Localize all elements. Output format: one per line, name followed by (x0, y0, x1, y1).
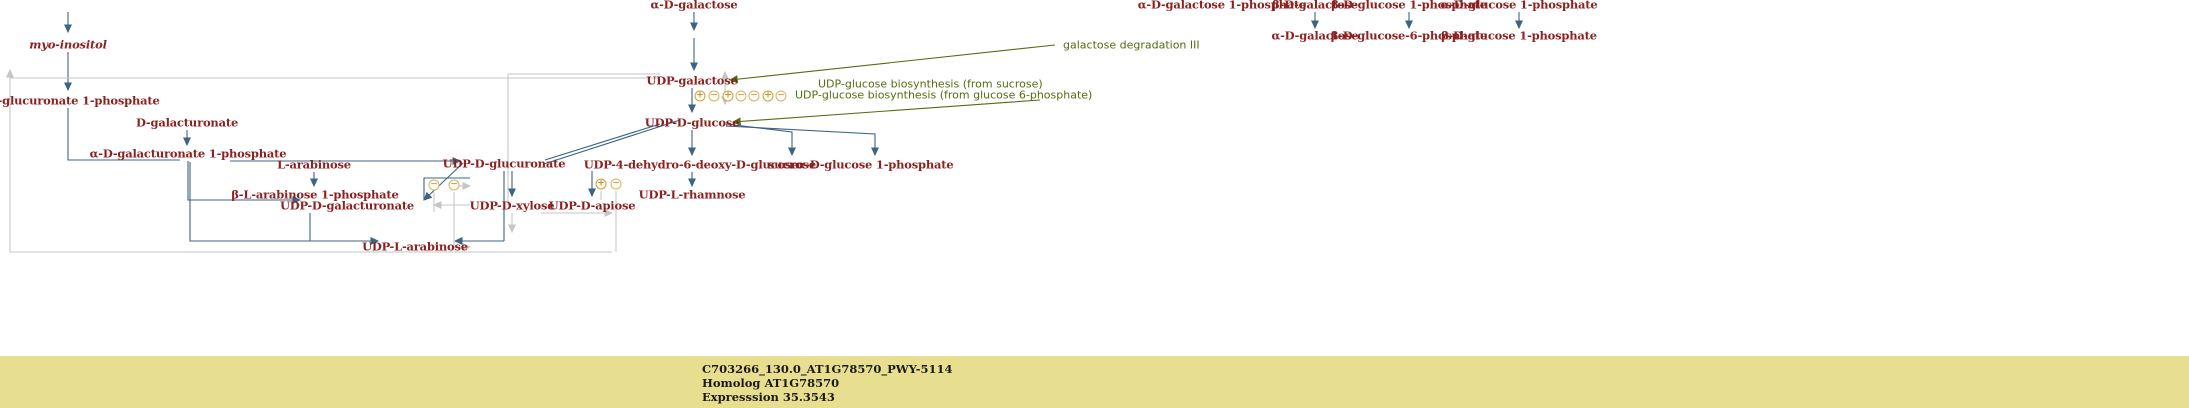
node-alpha-d-galactose-top[interactable]: α-D-galactose (650, 0, 737, 11)
node-alpha-d-glucuronate-1-phosphate[interactable]: α-D-glucuronate 1-phosphate (0, 95, 160, 107)
footer-expression: Expresssion 35.3543 (702, 392, 835, 404)
pathway-canvas: myo-inositol α-D-glucuronate 1-phosphate… (0, 0, 2189, 408)
node-udp-galactose[interactable]: UDP-galactose (646, 75, 737, 87)
footer-identifier: C703266_130.0_AT1G78570_PWY-5114 (702, 364, 953, 376)
regulator-plus-icon[interactable]: + (723, 91, 734, 102)
pathway-label-galactose-degradation-iii[interactable]: galactose degradation III (1063, 40, 1200, 51)
node-udp-d-xylose[interactable]: UDP-D-xylose (470, 200, 555, 212)
regulator-plus-icon[interactable]: + (695, 91, 706, 102)
node-udp-d-glucuronate[interactable]: UDP-D-glucuronate (443, 158, 566, 170)
node-alpha-d-glucose-1-phosphate-top[interactable]: α-D-glucose 1-phosphate (1440, 0, 1597, 11)
node-udp-l-arabinose[interactable]: UDP-L-arabinose (362, 241, 468, 253)
regulator-minus-icon[interactable]: − (736, 91, 747, 102)
node-udp-d-galacturonate[interactable]: UDP-D-galacturonate (280, 200, 414, 212)
regulator-minus-icon[interactable]: − (709, 91, 720, 102)
regulator-minus-icon[interactable]: − (749, 91, 760, 102)
footer-homolog: Homolog AT1G78570 (702, 378, 839, 390)
node-myo-inositol[interactable]: myo-inositol (29, 39, 107, 51)
node-alpha-d-galacturonate-1-phosphate[interactable]: α-D-galacturonate 1-phosphate (90, 148, 287, 160)
node-beta-d-glucose-1-phosphate-bottom[interactable]: β-D-glucose 1-phosphate (1441, 30, 1597, 42)
node-udp-d-glucose[interactable]: UDP-D-glucose (645, 117, 739, 129)
node-udp-d-apiose[interactable]: UDP-D-apiose (549, 200, 636, 212)
regulator-plus-icon[interactable]: + (763, 91, 774, 102)
regulator-plus-icon[interactable]: + (596, 179, 607, 190)
node-udp-4-dehydro-6-deoxy-d-glucose[interactable]: UDP-4-dehydro-6-deoxy-D-glucose (584, 159, 799, 171)
node-udp-l-rhamnose[interactable]: UDP-L-rhamnose (639, 189, 746, 201)
regulator-minus-icon[interactable]: − (776, 91, 787, 102)
node-alpha-d-glucose-1-phosphate-mid[interactable]: α-D-glucose 1-phosphate (796, 159, 953, 171)
node-l-arabinose[interactable]: L-arabinose (277, 159, 351, 171)
regulator-minus-icon[interactable]: − (449, 180, 460, 191)
regulator-minus-icon[interactable]: − (611, 179, 622, 190)
regulator-minus-icon[interactable]: − (429, 180, 440, 191)
node-d-galacturonate[interactable]: D-galacturonate (136, 117, 238, 129)
pathway-label-udp-glucose-biosynthesis-g6p[interactable]: UDP-glucose biosynthesis (from glucose 6… (795, 90, 1092, 101)
info-footer-banner: C703266_130.0_AT1G78570_PWY-5114 Homolog… (0, 356, 2189, 408)
